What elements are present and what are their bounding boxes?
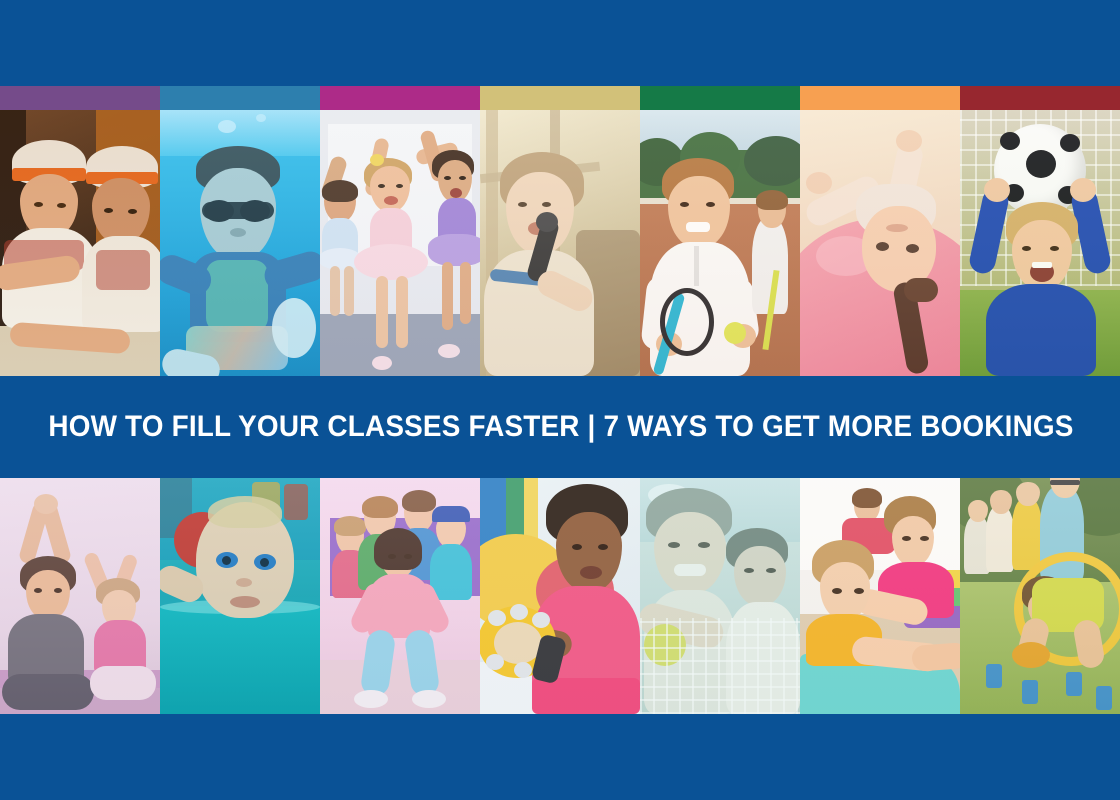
photo-panel-tennis-group [640,478,800,714]
photo-panel-baby-swim-class [160,478,320,714]
photo-panel-football-club [960,110,1120,376]
photo-panel-yoga-class [0,478,160,714]
color-swatch-orange [800,86,960,110]
color-swatch-magenta [320,86,480,110]
photo-panel-gymnastics-class [800,110,960,376]
color-swatch-maroon [960,86,1120,110]
page-title: HOW TO FILL YOUR CLASSES FASTER | 7 WAYS… [0,410,1074,444]
bottom-photo-row [0,478,1120,714]
photo-panel-outdoor-play-club [960,478,1120,714]
color-swatch-purple [0,86,160,110]
photo-panel-tennis-lesson [640,110,800,376]
photo-panel-singing-class [480,110,640,376]
color-swatch-green [640,86,800,110]
photo-panel-cooking-class [0,110,160,376]
color-swatch-blue [160,86,320,110]
color-swatch-khaki [480,86,640,110]
top-photo-row [0,110,1120,376]
color-strip [0,86,1120,110]
title-bar: HOW TO FILL YOUR CLASSES FASTER | 7 WAYS… [0,376,1120,478]
photo-panel-music-class [480,478,640,714]
banner: HOW TO FILL YOUR CLASSES FASTER | 7 WAYS… [0,0,1120,800]
photo-panel-stretching-class [800,478,960,714]
photo-panel-swimming-lesson [160,110,320,376]
photo-panel-ballet-class [320,110,480,376]
photo-panel-dance-fitness-class [320,478,480,714]
